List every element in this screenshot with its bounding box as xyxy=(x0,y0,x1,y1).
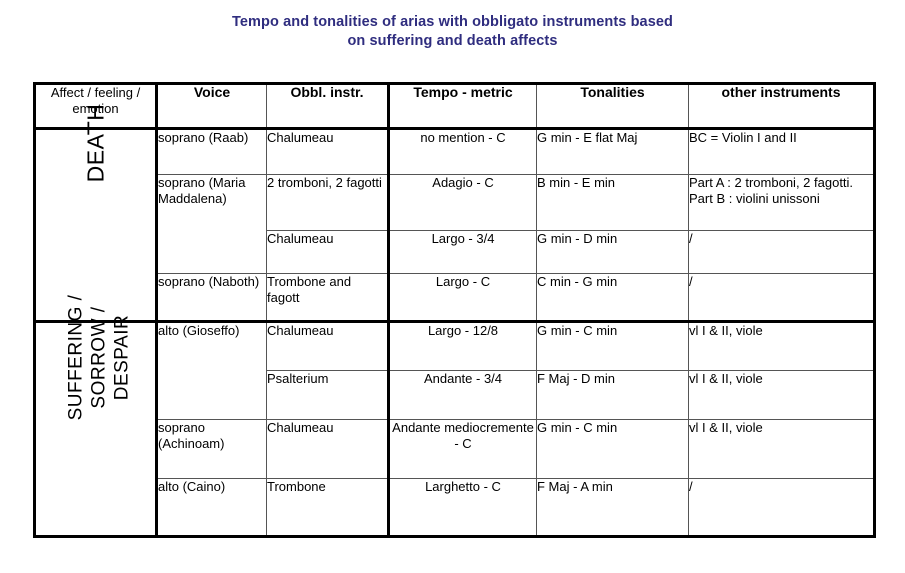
tonalities-label: F Maj - A min xyxy=(537,479,613,494)
tempo-label: Adagio - C xyxy=(432,175,493,190)
tempo-cell: Largo - 12/8 xyxy=(389,322,537,371)
header-label-affect-line1: Affect / feeling / xyxy=(51,85,140,100)
tempo-cell: Adagio - C xyxy=(389,175,537,231)
table-row: soprano (Naboth) Trombone and fagott Lar… xyxy=(35,274,875,322)
voice-cell: alto (Caino) xyxy=(157,479,267,537)
header-cell-obbl: Obbl. instr. xyxy=(267,84,389,129)
voice-cell: soprano (Raab) xyxy=(157,129,267,175)
other-label: / xyxy=(689,479,873,495)
obbl-label: Chalumeau xyxy=(267,323,334,338)
tempo-label: Largo - C xyxy=(436,274,490,289)
obbl-cell: Chalumeau xyxy=(267,420,389,479)
obbl-label: Chalumeau xyxy=(267,420,334,435)
obbl-label: Trombone xyxy=(267,479,326,494)
tempo-label: Andante - 3/4 xyxy=(424,371,502,386)
obbl-label: Chalumeau xyxy=(267,231,334,246)
voice-label: soprano (Achinoam) xyxy=(158,420,224,451)
other-label: Part A : 2 tromboni, 2 fagotti. Part B :… xyxy=(689,175,853,206)
other-cell: / xyxy=(689,274,875,322)
header-cell-tempo: Tempo - metric xyxy=(389,84,537,129)
table-row: alto (Caino) Trombone Larghetto - C F Ma… xyxy=(35,479,875,537)
header-label-tonalities: Tonalities xyxy=(537,85,688,101)
tempo-cell: Largo - C xyxy=(389,274,537,322)
tonalities-cell: F Maj - A min xyxy=(537,479,689,537)
voice-cell: soprano (Maria Maddalena) xyxy=(157,175,267,274)
affect-group-death: DEATH xyxy=(35,129,157,322)
other-label: / xyxy=(689,231,873,247)
obbl-cell: 2 tromboni, 2 fagotti xyxy=(267,175,389,231)
obbl-cell: Trombone and fagott xyxy=(267,274,389,322)
table-row: DEATH soprano (Raab) Chalumeau no mentio… xyxy=(35,129,875,175)
affect-label-line-1: SUFFERING / xyxy=(64,295,87,421)
tonalities-label: G min - C min xyxy=(537,323,617,338)
obbl-cell: Trombone xyxy=(267,479,389,537)
affect-label-death: DEATH xyxy=(83,104,109,183)
voice-label: soprano (Naboth) xyxy=(158,274,259,289)
header-cell-voice: Voice xyxy=(157,84,267,129)
table-row: soprano (Maria Maddalena) 2 tromboni, 2 … xyxy=(35,175,875,231)
tonalities-label: G min - D min xyxy=(537,231,617,246)
table-header-row: Affect / feeling / emotion Voice Obbl. i… xyxy=(35,84,875,129)
voice-label: soprano (Raab) xyxy=(158,130,248,145)
tempo-label: no mention - C xyxy=(420,130,505,145)
voice-label: alto (Gioseffo) xyxy=(158,323,239,338)
other-cell: / xyxy=(689,231,875,274)
tonalities-cell: F Maj - D min xyxy=(537,371,689,420)
other-cell: / xyxy=(689,479,875,537)
tonalities-cell: G min - D min xyxy=(537,231,689,274)
tempo-cell: no mention - C xyxy=(389,129,537,175)
affect-group-suffering: SUFFERING / SORROW / DESPAIR xyxy=(35,322,157,537)
other-cell: vl I & II, viole xyxy=(689,371,875,420)
header-label-tempo: Tempo - metric xyxy=(390,85,536,101)
other-cell: vl I & II, viole xyxy=(689,420,875,479)
tonalities-cell: G min - E flat Maj xyxy=(537,129,689,175)
voice-cell: soprano (Achinoam) xyxy=(157,420,267,479)
obbl-cell: Chalumeau xyxy=(267,129,389,175)
other-label: vl I & II, viole xyxy=(689,420,763,435)
obbl-label: Chalumeau xyxy=(267,130,334,145)
affect-label-line-2: SORROW / xyxy=(87,295,110,421)
obbl-label: Trombone and fagott xyxy=(267,274,351,305)
affect-label-suffering: SUFFERING / SORROW / DESPAIR xyxy=(64,295,133,421)
tonalities-label: B min - E min xyxy=(537,175,615,190)
header-cell-other: other instruments xyxy=(689,84,875,129)
page-title-line-2: on suffering and death affects xyxy=(347,33,557,49)
table-row: soprano (Achinoam) Chalumeau Andante med… xyxy=(35,420,875,479)
page-title: Tempo and tonalities of arias with obbli… xyxy=(0,13,905,51)
tonalities-label: C min - G min xyxy=(537,274,617,289)
tonalities-cell: G min - C min xyxy=(537,420,689,479)
tonalities-label: F Maj - D min xyxy=(537,371,615,386)
voice-cell: soprano (Naboth) xyxy=(157,274,267,322)
arias-table: Affect / feeling / emotion Voice Obbl. i… xyxy=(33,82,876,538)
table-container: Affect / feeling / emotion Voice Obbl. i… xyxy=(33,82,873,538)
tempo-cell: Andante - 3/4 xyxy=(389,371,537,420)
header-label-obbl: Obbl. instr. xyxy=(267,85,387,101)
other-cell: Part A : 2 tromboni, 2 fagotti. Part B :… xyxy=(689,175,875,231)
obbl-label: Psalterium xyxy=(267,371,328,386)
other-label: vl I & II, viole xyxy=(689,371,763,386)
page-root: Tempo and tonalities of arias with obbli… xyxy=(0,0,905,573)
tempo-cell: Largo - 3/4 xyxy=(389,231,537,274)
voice-label: alto (Caino) xyxy=(158,479,225,494)
obbl-cell: Chalumeau xyxy=(267,322,389,371)
affect-label-line-3: DESPAIR xyxy=(110,295,133,421)
other-label: BC = Violin I and II xyxy=(689,130,797,145)
tonalities-cell: G min - C min xyxy=(537,322,689,371)
tonalities-cell: B min - E min xyxy=(537,175,689,231)
other-label: vl I & II, viole xyxy=(689,323,763,338)
tempo-label: Largo - 12/8 xyxy=(428,323,498,338)
other-label: / xyxy=(689,274,873,290)
voice-label: soprano (Maria Maddalena) xyxy=(158,175,245,206)
page-title-line-1: Tempo and tonalities of arias with obbli… xyxy=(232,14,673,30)
obbl-cell: Chalumeau xyxy=(267,231,389,274)
tonalities-label: G min - C min xyxy=(537,420,617,435)
voice-cell: alto (Gioseffo) xyxy=(157,322,267,420)
tempo-cell: Larghetto - C xyxy=(389,479,537,537)
table-row: SUFFERING / SORROW / DESPAIR alto (Giose… xyxy=(35,322,875,371)
tonalities-cell: C min - G min xyxy=(537,274,689,322)
other-cell: vl I & II, viole xyxy=(689,322,875,371)
other-cell: BC = Violin I and II xyxy=(689,129,875,175)
tempo-cell: Andante mediocremente - C xyxy=(389,420,537,479)
obbl-label: 2 tromboni, 2 fagotti xyxy=(267,175,382,190)
tempo-label: Andante mediocremente - C xyxy=(392,420,534,451)
tempo-label: Larghetto - C xyxy=(425,479,501,494)
header-label-other: other instruments xyxy=(689,85,873,101)
header-cell-tonalities: Tonalities xyxy=(537,84,689,129)
obbl-cell: Psalterium xyxy=(267,371,389,420)
header-label-voice: Voice xyxy=(158,85,266,101)
tonalities-label: G min - E flat Maj xyxy=(537,130,637,145)
tempo-label: Largo - 3/4 xyxy=(432,231,495,246)
